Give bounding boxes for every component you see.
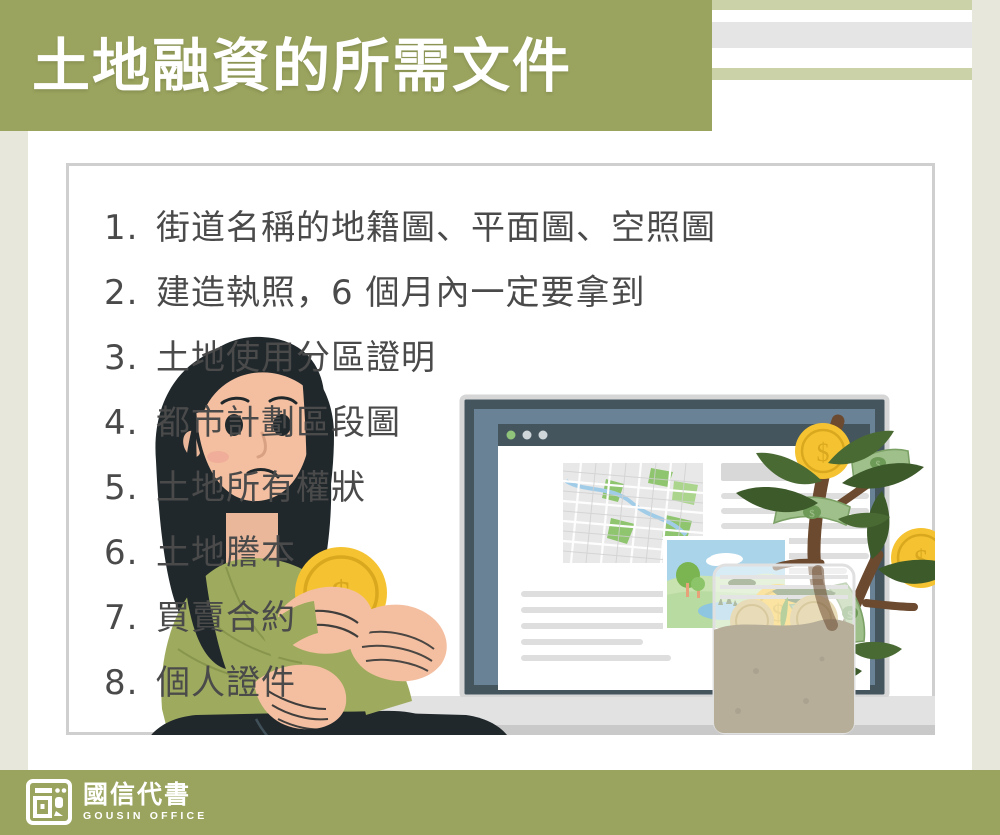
list-item-label: 買賣合約 <box>156 586 296 651</box>
title-banner: 土地融資的所需文件 <box>0 0 712 131</box>
list-item-label: 建造執照，6 個月內一定要拿到 <box>156 261 645 326</box>
list-item: 2. 建造執照，6 個月內一定要拿到 <box>104 261 716 326</box>
list-item-label: 土地所有權狀 <box>156 456 366 521</box>
list-item: 1. 街道名稱的地籍圖、平面圖、空照圖 <box>104 196 716 261</box>
infographic-page: 土地融資的所需文件 <box>0 0 1000 835</box>
gousin-logo-icon <box>26 779 72 825</box>
footer-bar: 國信代書 GOUSIN OFFICE <box>0 770 1000 835</box>
brand-name-cn: 國信代書 <box>83 782 207 808</box>
list-item-label: 土地使用分區證明 <box>156 326 436 391</box>
brand-text: 國信代書 GOUSIN OFFICE <box>83 782 207 823</box>
right-beige-strip <box>972 0 1000 770</box>
list-item: 5. 土地所有權狀 <box>104 456 716 521</box>
list-item-label: 個人證件 <box>156 651 296 716</box>
list-item-label: 都市計劃區段圖 <box>156 391 401 456</box>
list-item-number: 5. <box>104 456 156 521</box>
list-item-number: 3. <box>104 326 156 391</box>
stripe-green-bottom <box>708 68 972 80</box>
stripe-green-top <box>708 0 972 10</box>
page-title: 土地融資的所需文件 <box>32 37 572 95</box>
stripe-gray <box>708 22 972 48</box>
list-item-number: 4. <box>104 391 156 456</box>
left-beige-strip <box>0 131 28 770</box>
list-item: 4. 都市計劃區段圖 <box>104 391 716 456</box>
list-item: 3. 土地使用分區證明 <box>104 326 716 391</box>
list-item-label: 土地謄本 <box>156 521 296 586</box>
list-item: 8. 個人證件 <box>104 651 716 716</box>
document-list: 1. 街道名稱的地籍圖、平面圖、空照圖 2. 建造執照，6 個月內一定要拿到 3… <box>104 196 716 716</box>
list-item: 6. 土地謄本 <box>104 521 716 586</box>
list-item-number: 8. <box>104 651 156 716</box>
list-item-number: 7. <box>104 586 156 651</box>
brand-logo: 國信代書 GOUSIN OFFICE <box>26 779 207 825</box>
list-item-number: 2. <box>104 261 156 326</box>
brand-name-en: GOUSIN OFFICE <box>83 809 207 823</box>
list-item-number: 1. <box>104 196 156 261</box>
list-item-number: 6. <box>104 521 156 586</box>
decorative-stripes <box>708 0 972 110</box>
list-item-label: 街道名稱的地籍圖、平面圖、空照圖 <box>156 196 716 261</box>
list-item: 7. 買賣合約 <box>104 586 716 651</box>
